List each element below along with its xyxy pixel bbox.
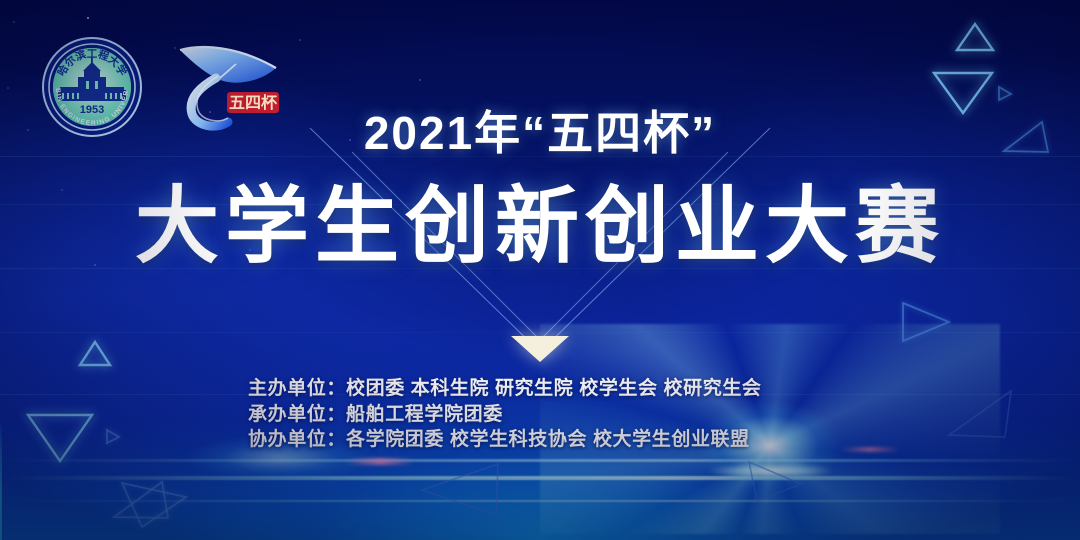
poster-banner: 哈尔滨工程大学 1953 HARBIN ENGINEERING bbox=[0, 0, 1080, 540]
vignette-overlay bbox=[0, 0, 1080, 540]
